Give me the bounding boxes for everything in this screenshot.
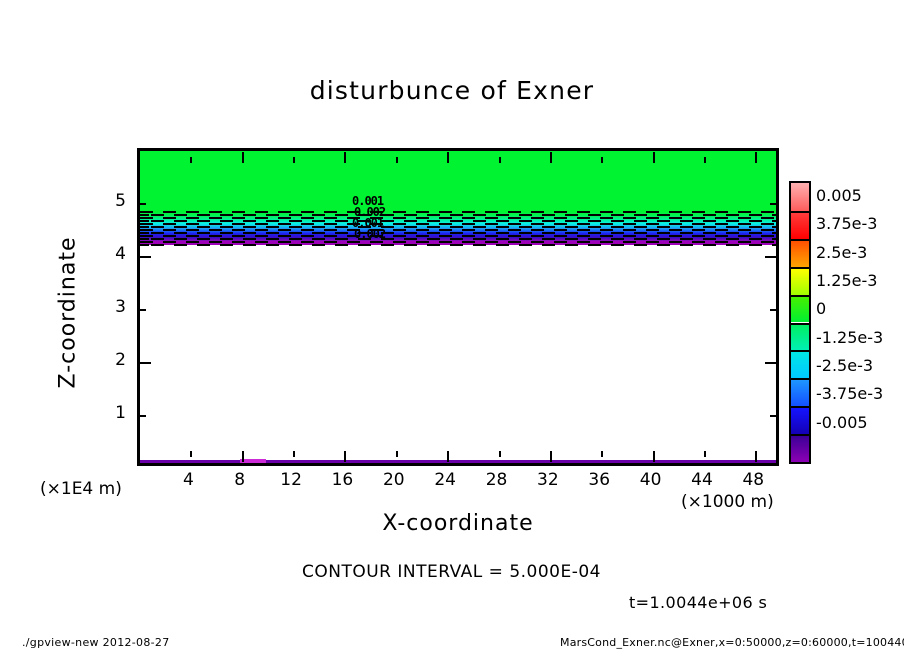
y-axis-units-label: (×1E4 m) xyxy=(40,479,122,499)
contour-line xyxy=(140,232,776,234)
x-axis-tick xyxy=(190,451,192,457)
colorbar-cell xyxy=(791,323,809,351)
colorbar-cell xyxy=(791,267,809,295)
contour-line xyxy=(140,217,776,219)
x-axis-tick xyxy=(704,157,706,163)
contour-line xyxy=(140,214,776,216)
x-axis-tick xyxy=(550,152,552,163)
y-axis-tick-label: 2 xyxy=(96,350,126,370)
y-axis-ticks-left xyxy=(140,151,152,463)
x-axis-tick xyxy=(601,451,603,457)
y-axis-ticks-right xyxy=(764,151,776,463)
x-axis-tick xyxy=(242,152,244,163)
x-axis-ticks-bottom xyxy=(140,451,776,463)
y-axis-tick-label: 5 xyxy=(96,191,126,211)
x-axis-tick xyxy=(293,451,295,457)
colorbar-tick-label: -2.5e-3 xyxy=(816,356,873,375)
colorbar-tick-label: 3.75e-3 xyxy=(816,214,877,233)
contour-line xyxy=(140,226,776,228)
y-axis-title: Z-coordinate xyxy=(56,203,81,423)
timestamp-label: t=1.0044e+06 s xyxy=(629,593,767,612)
x-axis-tick xyxy=(704,451,706,457)
x-axis-tick xyxy=(396,157,398,163)
colorbar-cell xyxy=(791,378,809,406)
colorbar-tick-label: 2.5e-3 xyxy=(816,243,867,262)
colorbar-cell xyxy=(791,406,809,434)
y-axis-tick xyxy=(140,362,151,364)
colorbar-tick-label: 0 xyxy=(816,299,826,318)
x-axis-tick xyxy=(499,157,501,163)
x-axis-tick xyxy=(447,152,449,163)
x-axis-tick xyxy=(242,451,244,462)
x-axis-tick xyxy=(601,157,603,163)
x-axis-tick xyxy=(755,152,757,163)
contour-lines-overlay xyxy=(140,211,776,247)
colorbar-cell xyxy=(791,434,809,462)
footer-command-label: ./gpview-new 2012-08-27 xyxy=(22,636,170,649)
x-axis-tick xyxy=(293,157,295,163)
plot-area xyxy=(137,148,779,466)
y-axis-tick xyxy=(140,256,151,258)
contour-line xyxy=(140,244,776,246)
y-axis-tick-label: 3 xyxy=(96,297,126,317)
y-axis-tick xyxy=(765,362,776,364)
x-axis-tick xyxy=(396,451,398,457)
x-axis-tick xyxy=(550,451,552,462)
x-axis-units-label: (×1000 m) xyxy=(681,492,774,512)
y-axis-tick xyxy=(140,415,146,417)
colorbar-cell xyxy=(791,295,809,323)
contour-interval-note: CONTOUR INTERVAL = 5.000E-04 xyxy=(302,562,601,582)
contour-line xyxy=(140,220,776,222)
contour-line xyxy=(140,238,776,240)
y-axis-tick-label: 1 xyxy=(96,403,126,423)
colorbar xyxy=(789,181,811,464)
y-axis-tick xyxy=(765,256,776,258)
contour-line xyxy=(140,223,776,225)
x-axis-tick xyxy=(447,451,449,462)
x-axis-title: X-coordinate xyxy=(137,511,779,536)
x-axis-tick-label: 48 xyxy=(723,470,783,490)
colorbar-tick-label: -0.005 xyxy=(816,413,868,432)
contour-line xyxy=(140,235,776,237)
colorbar-tick-label: 0.005 xyxy=(816,186,862,205)
x-axis-tick xyxy=(653,451,655,462)
y-axis-tick xyxy=(140,309,146,311)
y-axis-tick xyxy=(770,203,776,205)
x-axis-tick xyxy=(755,451,757,462)
x-axis-ticks-top xyxy=(140,151,776,163)
colorbar-tick-label: 1.25e-3 xyxy=(816,271,877,290)
x-axis-tick xyxy=(499,451,501,457)
colorbar-tick-label: -1.25e-3 xyxy=(816,328,883,347)
contour-value-label: 0.002 xyxy=(354,229,416,238)
contour-line xyxy=(140,241,776,243)
y-axis-tick-label: 4 xyxy=(96,244,126,264)
contour-line xyxy=(140,229,776,231)
y-axis-tick xyxy=(770,309,776,311)
colorbar-cell xyxy=(791,183,809,211)
x-axis-tick xyxy=(344,451,346,462)
y-axis-tick xyxy=(140,203,146,205)
colorbar-cell xyxy=(791,239,809,267)
page-title: disturbunce of Exner xyxy=(0,76,904,105)
contour-line xyxy=(140,211,776,213)
x-axis-tick xyxy=(653,152,655,163)
colorbar-cell xyxy=(791,211,809,239)
inline-contour-labels: 0.0010.0020.0010.002 xyxy=(352,196,416,238)
y-axis-tick xyxy=(770,415,776,417)
x-axis-tick xyxy=(344,152,346,163)
colorbar-tick-label: -3.75e-3 xyxy=(816,384,883,403)
colorbar-cell xyxy=(791,350,809,378)
footer-source-label: MarsCond_Exner.nc@Exner,x=0:50000,z=0:60… xyxy=(560,636,904,649)
x-axis-tick xyxy=(190,157,192,163)
